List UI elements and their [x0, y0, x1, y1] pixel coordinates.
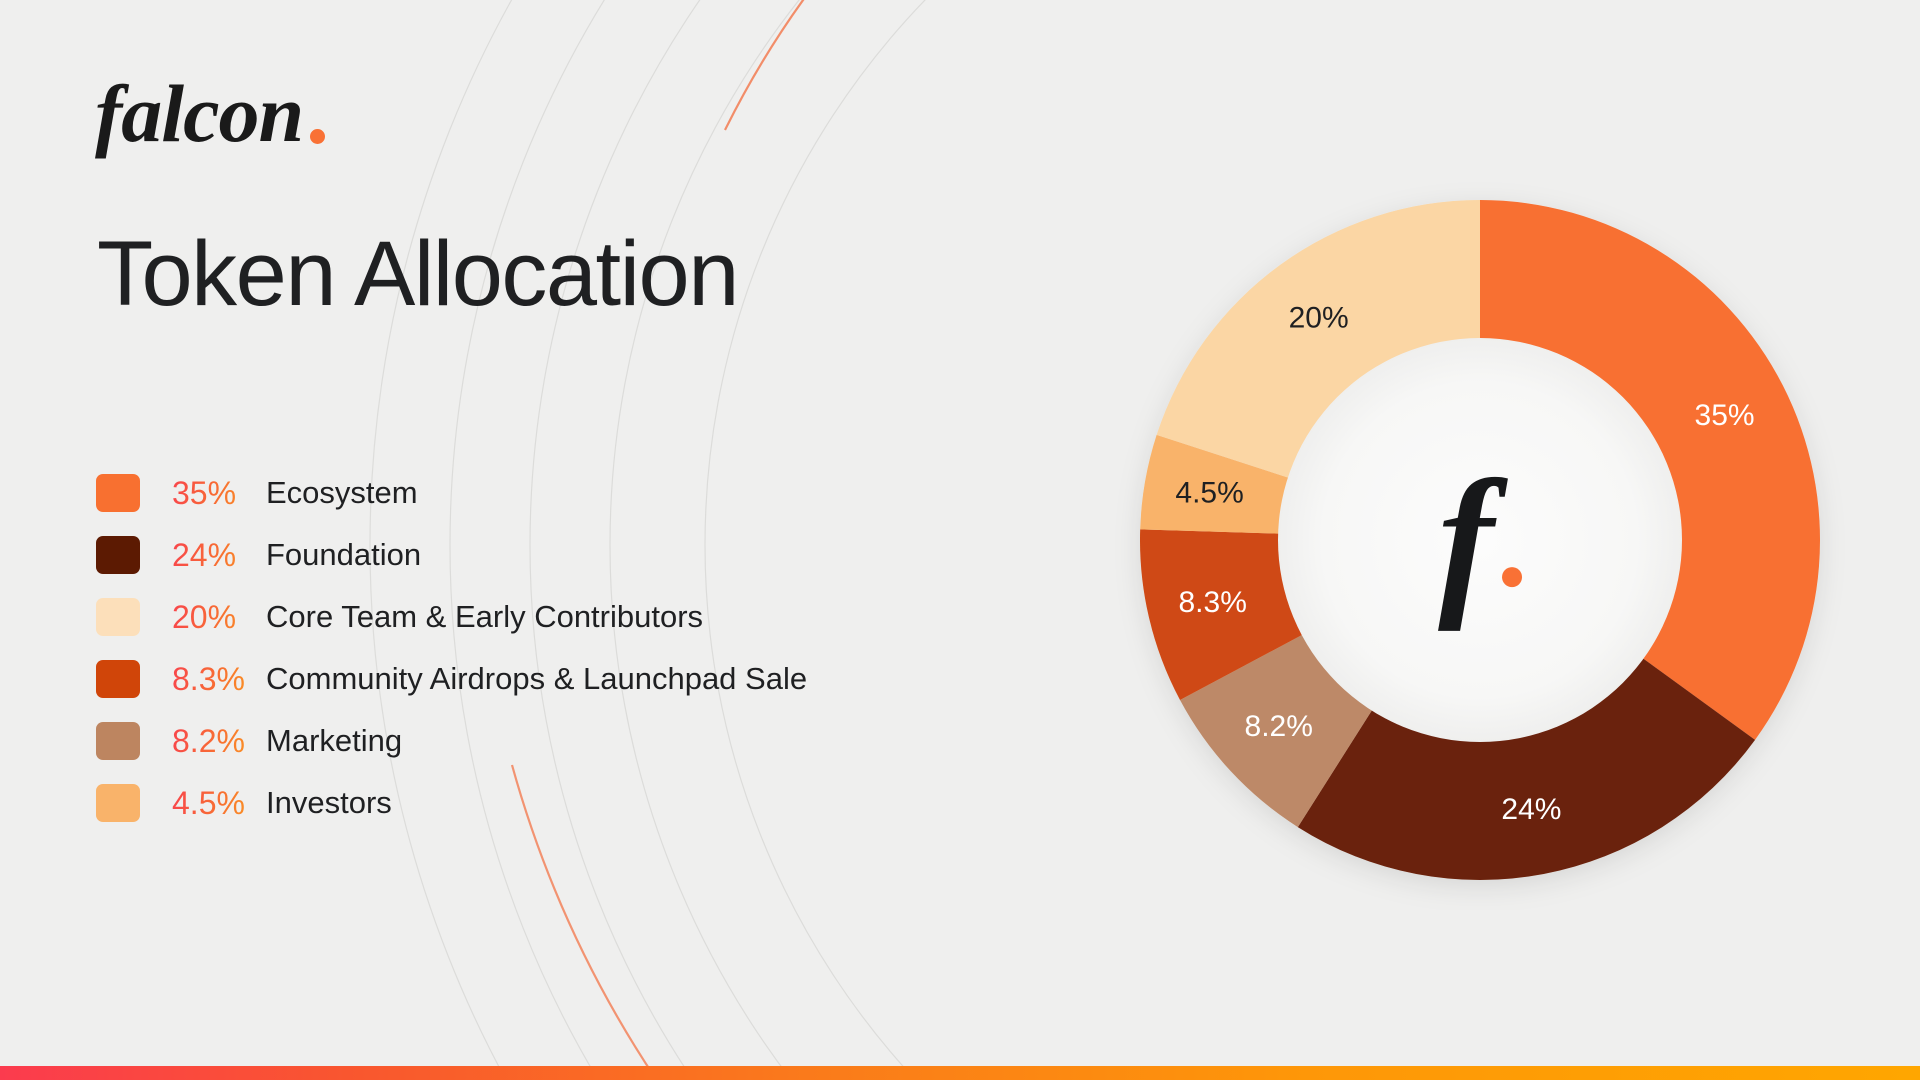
legend-label: Core Team & Early Contributors	[266, 599, 703, 635]
legend-item-investors[interactable]: 4.5% Investors	[96, 782, 807, 824]
legend-swatch	[96, 660, 140, 698]
legend-swatch	[96, 722, 140, 760]
donut-slice-label: 8.3%	[1179, 586, 1247, 619]
legend-label: Foundation	[266, 537, 421, 573]
legend-percent: 35%	[172, 475, 272, 512]
donut-slice-label: 20%	[1289, 301, 1349, 334]
slide-canvas: falcon Token Allocation 35% Ecosystem 24…	[0, 0, 1920, 1080]
donut-slice-label: 4.5%	[1175, 476, 1243, 509]
donut-slice-label: 24%	[1501, 793, 1561, 826]
legend-percent: 24%	[172, 537, 272, 574]
donut-svg: 35%24%8.2%8.3%4.5%20%	[1110, 170, 1850, 910]
legend-label: Investors	[266, 785, 392, 821]
legend-item-foundation[interactable]: 24% Foundation	[96, 534, 807, 576]
legend-swatch	[96, 598, 140, 636]
legend-percent: 20%	[172, 599, 272, 636]
legend-percent: 4.5%	[172, 785, 272, 822]
page-title: Token Allocation	[97, 222, 738, 327]
brand-wordmark: falcon	[95, 75, 303, 153]
legend-percent: 8.3%	[172, 661, 272, 698]
legend-label: Community Airdrops & Launchpad Sale	[266, 661, 807, 697]
brand-logo: falcon	[95, 75, 325, 153]
legend-item-marketing[interactable]: 8.2% Marketing	[96, 720, 807, 762]
legend-swatch	[96, 474, 140, 512]
legend-label: Marketing	[266, 723, 402, 759]
legend-swatch	[96, 784, 140, 822]
legend-percent: 8.2%	[172, 723, 272, 760]
legend-item-community-airdrops[interactable]: 8.3% Community Airdrops & Launchpad Sale	[96, 658, 807, 700]
legend-label: Ecosystem	[266, 475, 418, 511]
brand-dot-icon	[310, 129, 325, 144]
legend-swatch	[96, 536, 140, 574]
legend-item-core-team[interactable]: 20% Core Team & Early Contributors	[96, 596, 807, 638]
donut-slice-label: 8.2%	[1245, 710, 1313, 743]
donut-hole	[1278, 338, 1682, 742]
token-allocation-donut-chart: 35%24%8.2%8.3%4.5%20% f	[1110, 170, 1850, 910]
legend-item-ecosystem[interactable]: 35% Ecosystem	[96, 472, 807, 514]
bottom-gradient-bar	[0, 1066, 1920, 1080]
legend: 35% Ecosystem 24% Foundation 20% Core Te…	[96, 472, 807, 824]
donut-slice-label: 35%	[1695, 399, 1755, 432]
